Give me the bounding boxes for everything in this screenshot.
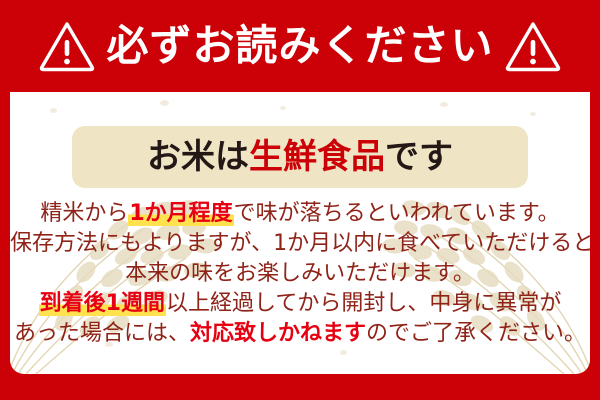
page-title: 必ずお読みください	[106, 25, 493, 67]
grain-speckle	[280, 106, 286, 110]
plain-phrase: 以上経過してから開封し、中身に異常が	[166, 291, 561, 316]
notice-poster: 必ずお読みください	[0, 0, 600, 400]
grain-speckle	[440, 102, 448, 107]
grain-speckle	[50, 108, 57, 113]
plain-phrase: あった場合には、	[14, 321, 190, 346]
headline-suffix: です	[385, 137, 453, 177]
content-card: お米は生鮮食品です 精米から1か月程度で味が落ちるといわれています。 保存方法に…	[10, 92, 590, 374]
grain-speckle	[160, 100, 169, 106]
header-banner: 必ずお読みください	[0, 0, 600, 92]
body-line: あった場合には、対応致しかねますのでご了承ください。	[10, 320, 590, 348]
highlighted-phrase: 到着後1週間	[39, 291, 166, 316]
headline-banner: お米は生鮮食品です	[72, 126, 528, 188]
body-line: 保存方法にもよりますが、1か月以内に食べていただけると	[10, 230, 590, 258]
plain-phrase: で味が落ちるといわれています。	[234, 201, 560, 226]
warning-triangle-icon	[504, 20, 562, 72]
headline-accent: 生鮮食品	[249, 137, 385, 177]
body-text-block: 精米から1か月程度で味が落ちるといわれています。 保存方法にもよりますが、1か月…	[10, 200, 590, 350]
grain-speckle	[340, 350, 347, 355]
grain-speckle	[530, 112, 536, 116]
plain-phrase: 精米から	[40, 201, 128, 226]
headline-prefix: お米は	[147, 137, 249, 177]
highlighted-phrase: 1か月程度	[128, 201, 233, 226]
emphasized-phrase: 対応致しかねます	[190, 321, 366, 346]
body-line: 精米から1か月程度で味が落ちるといわれています。	[10, 200, 590, 228]
warning-triangle-icon	[38, 20, 96, 72]
plain-phrase: のでご了承ください。	[366, 321, 586, 346]
plain-phrase: 保存方法にもよりますが、1か月以内に食べていただけると	[10, 231, 590, 256]
plain-phrase: 本来の味をお楽しみいただけます。	[125, 261, 475, 286]
body-line: 到着後1週間以上経過してから開封し、中身に異常が	[10, 290, 590, 318]
headline-text: お米は生鮮食品です	[147, 140, 453, 174]
body-line: 本来の味をお楽しみいただけます。	[10, 260, 590, 288]
